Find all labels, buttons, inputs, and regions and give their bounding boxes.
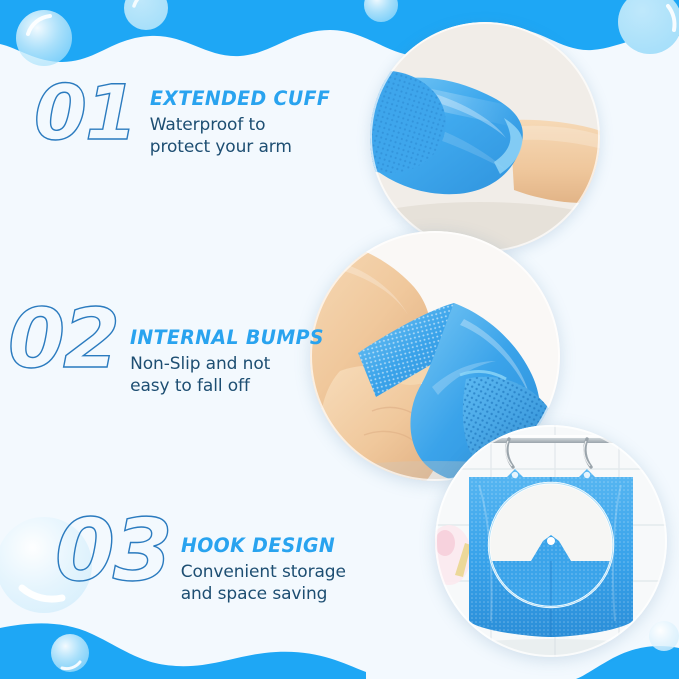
feature-number-01: 01 [34, 78, 136, 148]
feature-text-02: INTERNAL BUMPS Non-Slip and not easy to … [130, 302, 330, 398]
bubble-bottom-right [649, 621, 679, 651]
feature-item-03: 03 HOOK DESIGN Convenient storage and sp… [55, 512, 346, 606]
feature-photo-extended-cuff [370, 22, 600, 252]
feature-heading-02: INTERNAL BUMPS [130, 326, 324, 349]
feature-item-01: 01 EXTENDED CUFF Waterproof to protect y… [34, 78, 336, 159]
bubble-top-right [618, 0, 679, 54]
feature-heading-01: EXTENDED CUFF [150, 87, 330, 110]
feature-item-02: 02 INTERNAL BUMPS Non-Slip and not easy … [8, 302, 330, 398]
feature-heading-03: HOOK DESIGN [181, 534, 341, 557]
feature-body-02: Non-Slip and not easy to fall off [130, 354, 330, 398]
feature-body-03: Convenient storage and space saving [181, 562, 346, 606]
feature-text-01: EXTENDED CUFF Waterproof to protect your… [150, 78, 336, 159]
feature-text-03: HOOK DESIGN Convenient storage and space… [181, 512, 346, 606]
feature-number-02: 02 [8, 302, 118, 377]
feature-body-01: Waterproof to protect your arm [150, 115, 336, 159]
feature-photo-hook-design: Beauty [435, 425, 667, 657]
feature-number-03: 03 [55, 512, 171, 591]
bubble-top-right-small [364, 0, 398, 22]
feature-list: 01 EXTENDED CUFF Waterproof to protect y… [0, 0, 360, 679]
infographic-canvas: Beauty [0, 0, 679, 679]
